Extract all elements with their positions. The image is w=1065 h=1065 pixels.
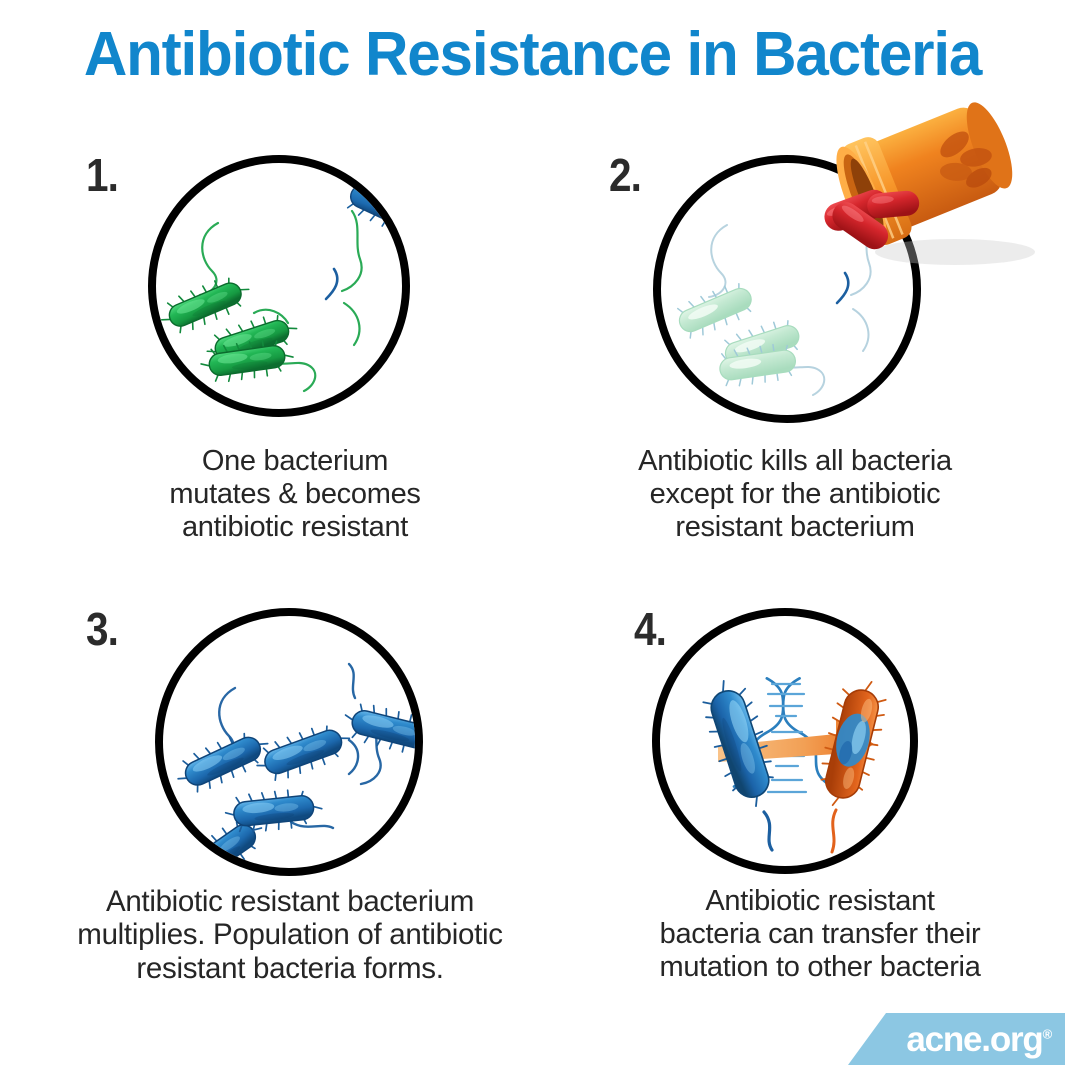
pill-bottle-icon	[815, 102, 1045, 287]
page-title: Antibiotic Resistance in Bacteria	[16, 24, 1049, 86]
panel-step-4: 4.	[590, 580, 1050, 1000]
dish-contents-4	[660, 616, 910, 866]
step-number-4: 4.	[634, 602, 666, 656]
bacterium-blue-mutated	[344, 176, 402, 237]
bacterium-blue	[252, 718, 355, 787]
petri-dish-4	[652, 608, 918, 874]
flagellum-orange	[832, 810, 836, 852]
dish-contents-1	[156, 163, 402, 409]
panel-step-2: 2.	[545, 130, 1045, 550]
dish-contents-3	[163, 616, 415, 868]
step-number-1: 1.	[86, 148, 118, 202]
bacterium-blue	[380, 628, 415, 714]
bacterium-green	[156, 270, 255, 339]
gene-transfer-illustration	[660, 616, 910, 866]
caption-step-2: Antibiotic kills all bacteria except for…	[545, 445, 1045, 543]
petri-dish-1	[148, 155, 410, 417]
caption-step-4: Antibiotic resistant bacteria can transf…	[590, 885, 1050, 983]
infographic-canvas: Antibiotic Resistance in Bacteria 1.	[0, 0, 1065, 1065]
acne-org-logo[interactable]: acne.org®	[848, 1013, 1065, 1065]
bacterium-blue	[171, 724, 274, 799]
caption-step-1: One bacterium mutates & becomes antibiot…	[60, 445, 530, 543]
logo-text: acne.org®	[906, 1022, 1051, 1057]
petri-dish-3	[155, 608, 423, 876]
bacterium-blue	[163, 860, 259, 868]
bacterium-green	[400, 204, 402, 303]
panel-step-1: 1.	[60, 130, 530, 550]
bacteria-group-green	[156, 163, 402, 409]
bacteria-group-blue	[163, 616, 415, 868]
flagellum-blue	[764, 812, 772, 850]
logo-wordmark: acne.org	[906, 1020, 1042, 1059]
bacterium-faded	[673, 279, 757, 342]
registered-trademark-symbol: ®	[1043, 1026, 1051, 1041]
step-number-3: 3.	[86, 602, 118, 656]
caption-step-3: Antibiotic resistant bacterium multiplie…	[40, 885, 540, 985]
step-number-2: 2.	[609, 148, 641, 202]
panel-step-3: 3.	[40, 580, 540, 1000]
